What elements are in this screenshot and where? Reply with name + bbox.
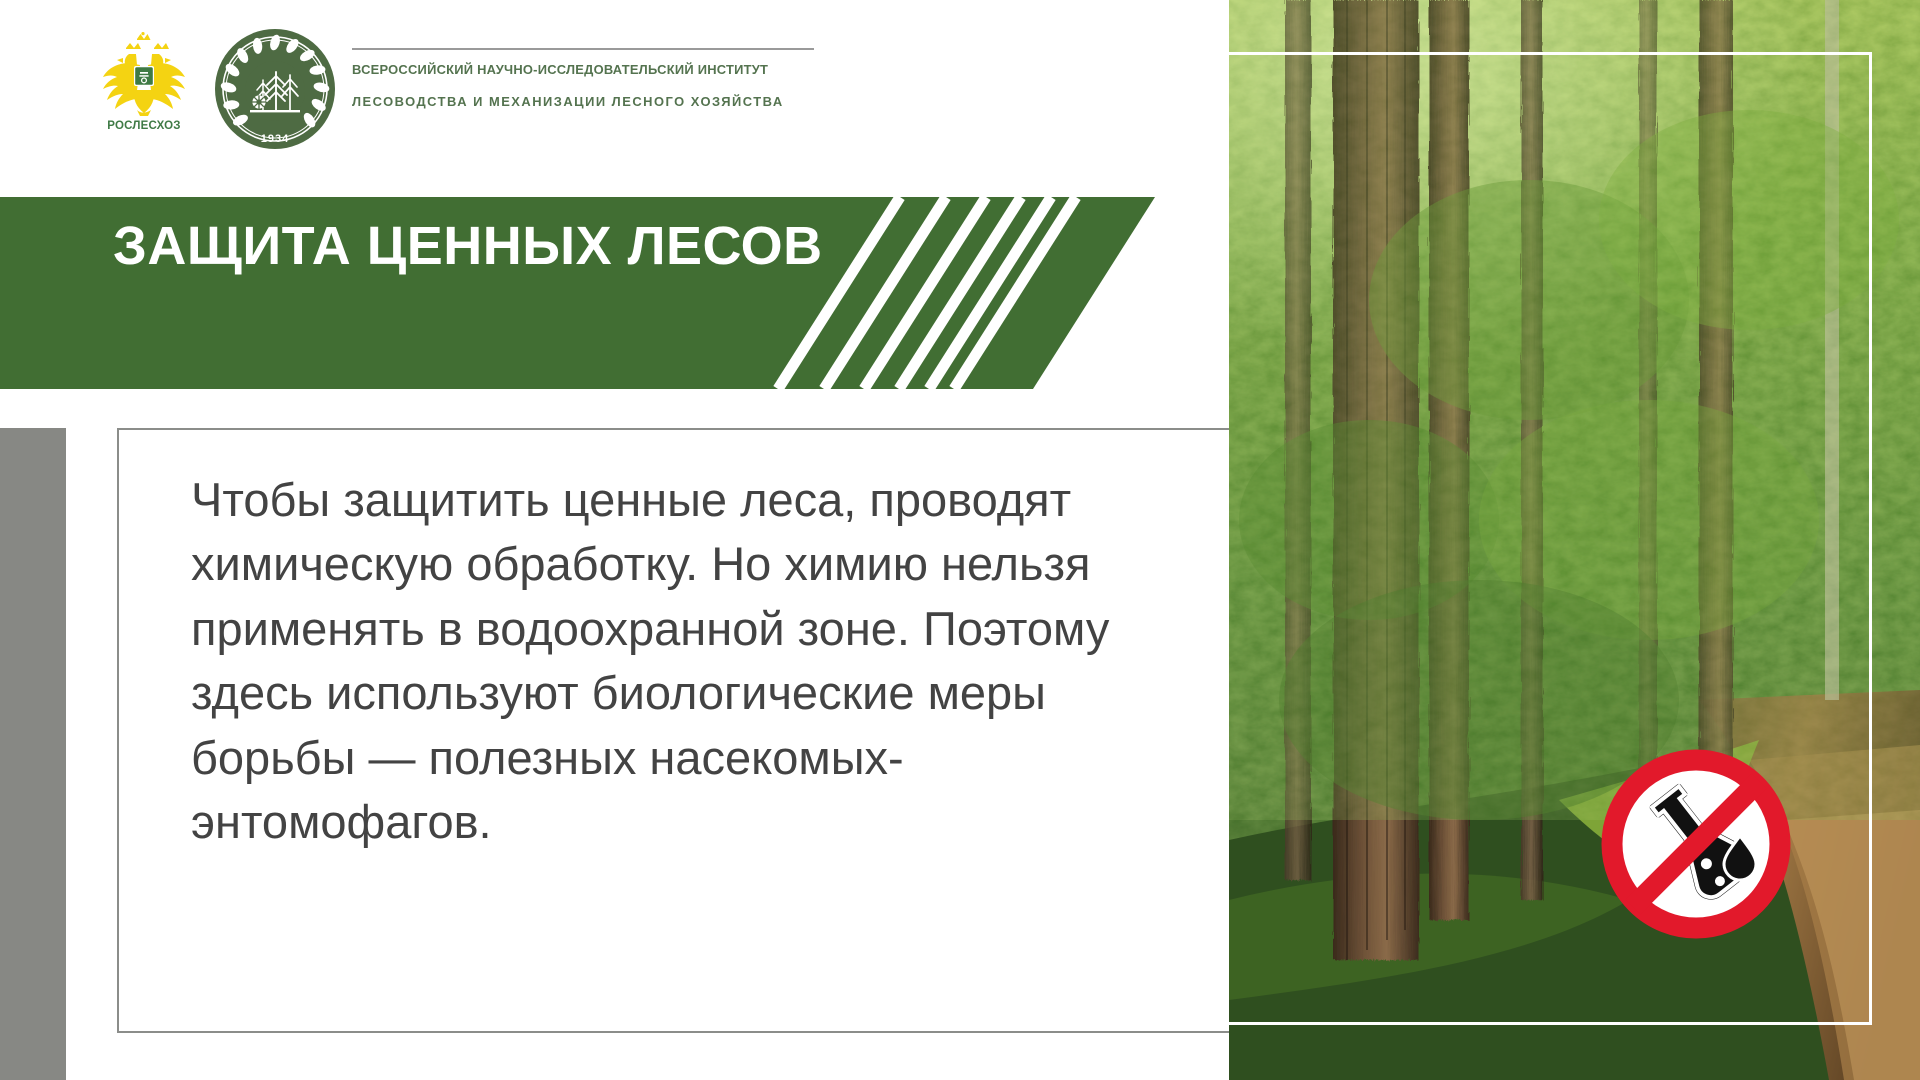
double-headed-eagle-icon (96, 32, 192, 116)
title-banner: ЗАЩИТА ЦЕННЫХ ЛЕСОВ (0, 197, 1155, 389)
page-title: ЗАЩИТА ЦЕННЫХ ЛЕСОВ (113, 215, 913, 278)
body-box-top-border (117, 428, 1230, 430)
slide-header: РОСЛЕСХОЗ (0, 0, 1230, 160)
vniilm-year: 1934 (261, 133, 289, 145)
slide-canvas: РОСЛЕСХОЗ (0, 0, 1920, 1080)
body-box-left-border (117, 428, 119, 1033)
institute-title: ВСЕРОССИЙСКИЙ НАУЧНО-ИССЛЕДОВАТЕЛЬСКИЙ И… (352, 48, 822, 110)
body-box-bottom-border (117, 1031, 1230, 1033)
forest-photo (1229, 0, 1920, 1080)
roslesxoz-logo: РОСЛЕСХОЗ (96, 32, 192, 142)
institute-name-line1: ВСЕРОССИЙСКИЙ НАУЧНО-ИССЛЕДОВАТЕЛЬСКИЙ И… (352, 62, 822, 78)
body-paragraph: Чтобы защитить ценные леса, проводят хим… (191, 468, 1191, 854)
body-text-box: Чтобы защитить ценные леса, проводят хим… (117, 428, 1230, 1033)
roslesxoz-caption: РОСЛЕСХОЗ (96, 120, 192, 132)
institute-name-line2: ЛЕСОВОДСТВА И МЕХАНИЗАЦИИ ЛЕСНОГО ХОЗЯЙС… (352, 94, 822, 110)
left-accent-bar (0, 428, 66, 1080)
vniilm-emblem-icon: ВНИИЛМ 1934 (214, 28, 336, 150)
no-chemicals-icon (1600, 748, 1792, 940)
title-rule (352, 48, 814, 50)
